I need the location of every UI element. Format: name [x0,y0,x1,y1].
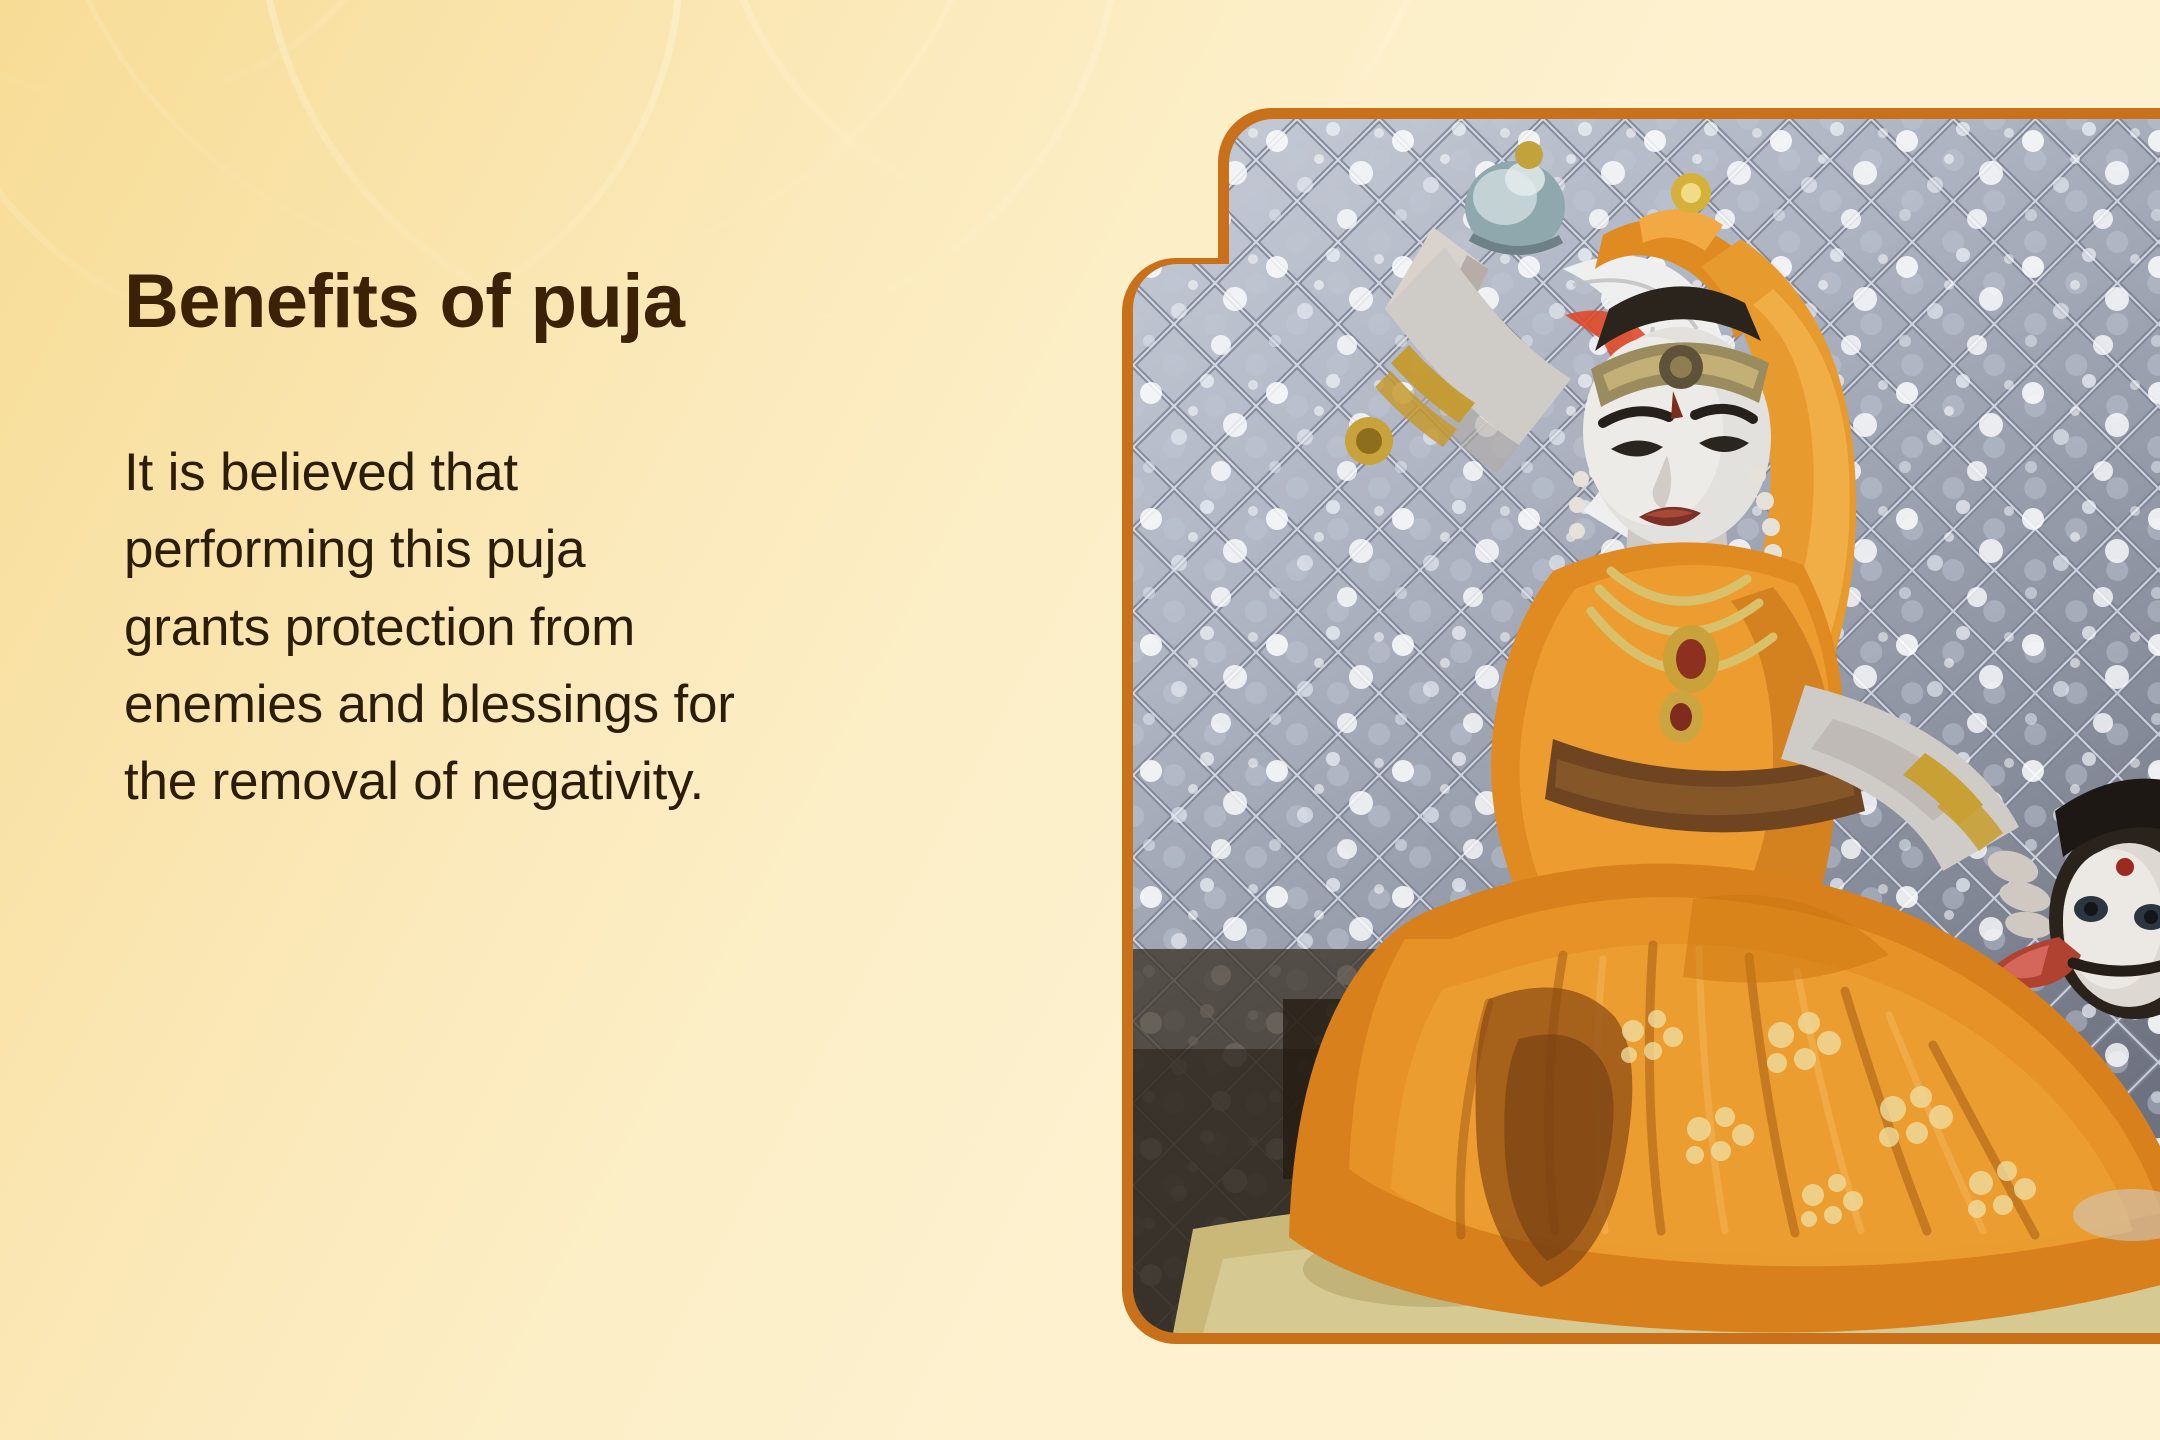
photo-segment-lower [1133,264,2160,1333]
slide-root: Benefits of puja It is believed that per… [0,0,2160,1440]
body-line: enemies and blessings for [124,666,974,743]
photo-frame [1122,108,2160,1344]
body-paragraph: It is believed that performing this puja… [124,434,974,821]
body-line: performing this puja [124,511,974,588]
body-line: grants protection from [124,589,974,666]
photo-clip [1133,119,2160,1333]
body-line: the removal of negativity. [124,743,974,820]
text-column: Benefits of puja It is believed that per… [124,0,974,1440]
body-line: It is believed that [124,434,974,511]
page-title: Benefits of puja [124,262,974,342]
deity-photo [1133,264,2160,1333]
